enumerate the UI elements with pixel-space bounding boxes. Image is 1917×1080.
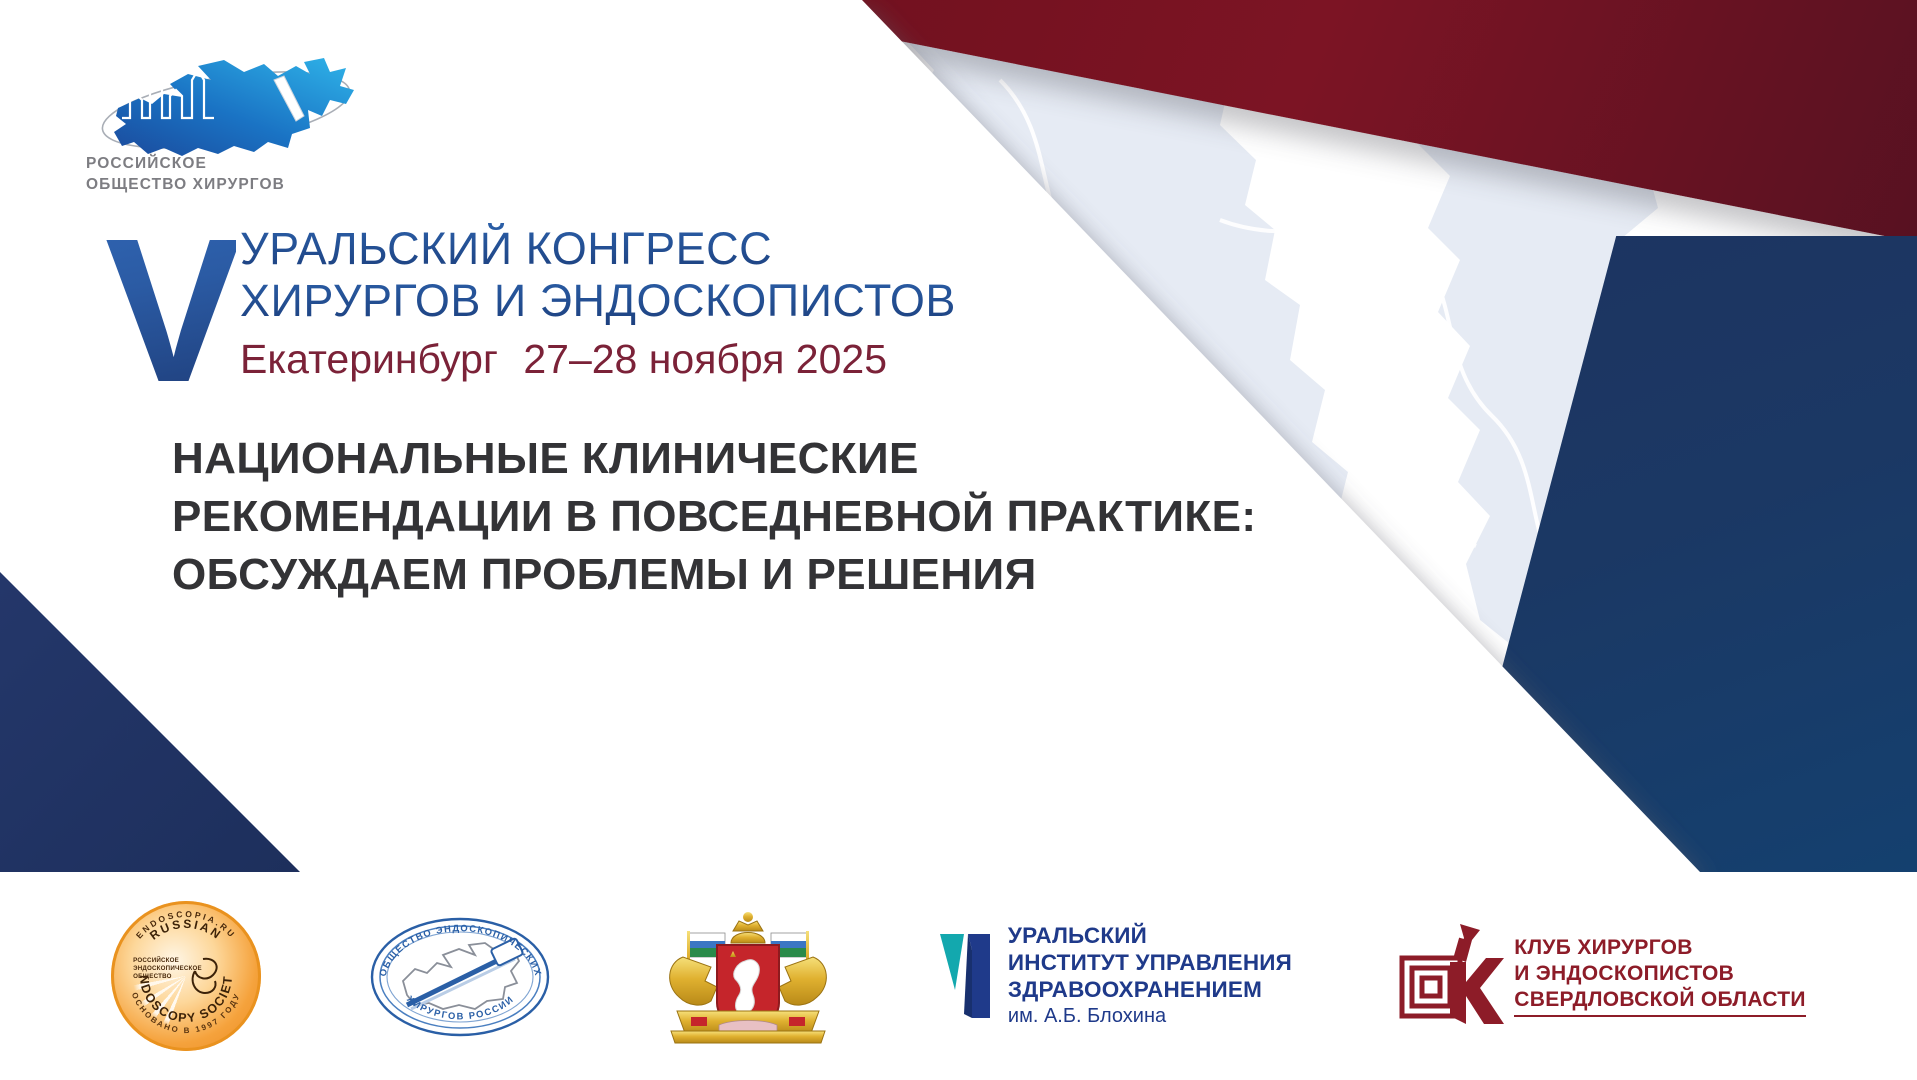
society-logo-text: РОССИЙСКОЕ ОБЩЕСТВО ХИРУРГОВ bbox=[86, 153, 285, 195]
russia-map-emblem-icon bbox=[78, 50, 378, 165]
congress-title-line2: ХИРУРГОВ И ЭНДОСКОПИСТОВ bbox=[240, 275, 956, 327]
congress-dates: 27–28 ноября 2025 bbox=[523, 336, 887, 382]
society-logo-line2: ОБЩЕСТВО ХИРУРГОВ bbox=[86, 174, 285, 195]
seal-inner-text: РОССИЙСКОЕ ЭНДОСКОПИЧЕСКОЕ ОБЩЕСТВО bbox=[133, 957, 207, 981]
uiuz-line3: ЗДРАВООХРАНЕНИЕМ bbox=[1008, 976, 1292, 1003]
seal-inner-line2: ЭНДОСКОПИЧЕСКОЕ bbox=[133, 965, 207, 973]
logo-club-of-surgeons-endoscopists: КЛУБ ХИРУРГОВ И ЭНДОСКОПИСТОВ СВЕРДЛОВСК… bbox=[1394, 916, 1806, 1036]
seal-inner-line1: РОССИЙСКОЕ bbox=[133, 957, 207, 965]
logo-ural-institute-health-management: УРАЛЬСКИЙ ИНСТИТУТ УПРАВЛЕНИЯ ЗДРАВООХРА… bbox=[938, 922, 1292, 1030]
uiuz-wordmark: УРАЛЬСКИЙ ИНСТИТУТ УПРАВЛЕНИЯ ЗДРАВООХРА… bbox=[1008, 922, 1292, 1030]
club-wordmark: КЛУБ ХИРУРГОВ И ЭНДОСКОПИСТОВ СВЕРДЛОВСК… bbox=[1514, 935, 1806, 1017]
banner-stage: РОССИЙСКОЕ ОБЩЕСТВО ХИРУРГОВ V УРАЛЬСКИЙ… bbox=[0, 0, 1917, 872]
headline-line1: НАЦИОНАЛЬНЫЕ КЛИНИЧЕСКИЕ bbox=[172, 430, 1452, 488]
society-logo-line1: РОССИЙСКОЕ bbox=[86, 153, 285, 174]
headline-line2: РЕКОМЕНДАЦИИ В ПОВСЕДНЕВНОЙ ПРАКТИКЕ: bbox=[172, 488, 1452, 546]
russian-society-of-surgeons-logo: РОССИЙСКОЕ ОБЩЕСТВО ХИРУРГОВ bbox=[78, 50, 378, 200]
logo-russian-endoscopy-society: ENDOSCOPIA.RU RUSSIAN ENDOSCOPY SOCIETY … bbox=[111, 901, 261, 1051]
griffin-left-icon bbox=[669, 957, 716, 1005]
headline-line3: ОБСУЖДАЕМ ПРОБЛЕМЫ И РЕШЕНИЯ bbox=[172, 546, 1452, 604]
congress-city: Екатеринбург bbox=[240, 336, 498, 382]
club-line2: И ЭНДОСКОПИСТОВ bbox=[1514, 961, 1806, 987]
endoscopy-society-seal-icon: ENDOSCOPIA.RU RUSSIAN ENDOSCOPY SOCIETY … bbox=[111, 901, 261, 1051]
sverdlovsk-coat-of-arms-icon bbox=[661, 901, 836, 1051]
seal-inner-line3: ОБЩЕСТВО bbox=[133, 973, 207, 981]
griffin-right-icon bbox=[779, 957, 826, 1005]
uiuz-line1: УРАЛЬСКИЙ bbox=[1008, 922, 1292, 949]
congress-place-and-dates: Екатеринбург 27–28 ноября 2025 bbox=[240, 335, 956, 383]
conference-banner: РОССИЙСКОЕ ОБЩЕСТВО ХИРУРГОВ V УРАЛЬСКИЙ… bbox=[0, 0, 1917, 1080]
club-k-monogram-icon bbox=[1394, 916, 1504, 1036]
crown-icon bbox=[731, 912, 765, 943]
banner-headline: НАЦИОНАЛЬНЫЕ КЛИНИЧЕСКИЕ РЕКОМЕНДАЦИИ В … bbox=[172, 430, 1452, 604]
club-line1: КЛУБ ХИРУРГОВ bbox=[1514, 935, 1806, 961]
uiuz-line2: ИНСТИТУТ УПРАВЛЕНИЯ bbox=[1008, 949, 1292, 976]
congress-title-block: УРАЛЬСКИЙ КОНГРЕСС ХИРУРГОВ И ЭНДОСКОПИС… bbox=[240, 223, 956, 383]
congress-title-line1: УРАЛЬСКИЙ КОНГРЕСС bbox=[240, 223, 956, 275]
uiuz-v-mark-icon bbox=[938, 930, 994, 1022]
logo-society-of-endoscopic-surgeons: ОБЩЕСТВО ЭНДОСКОПИЧЕСКИХ ХИРУРГОВ РОССИИ bbox=[363, 909, 558, 1044]
club-line3: СВЕРДЛОВСКОЙ ОБЛАСТИ bbox=[1514, 987, 1806, 1017]
congress-roman-numeral: V bbox=[105, 223, 236, 398]
uiuz-line4: им. А.Б. Блохина bbox=[1008, 1003, 1292, 1030]
endoscopic-surgeons-ring-icon: ОБЩЕСТВО ЭНДОСКОПИЧЕСКИХ ХИРУРГОВ РОССИИ bbox=[363, 909, 558, 1044]
logo-sverdlovsk-coat-of-arms bbox=[661, 901, 836, 1051]
partner-logo-strip: ENDOSCOPIA.RU RUSSIAN ENDOSCOPY SOCIETY … bbox=[0, 872, 1917, 1080]
